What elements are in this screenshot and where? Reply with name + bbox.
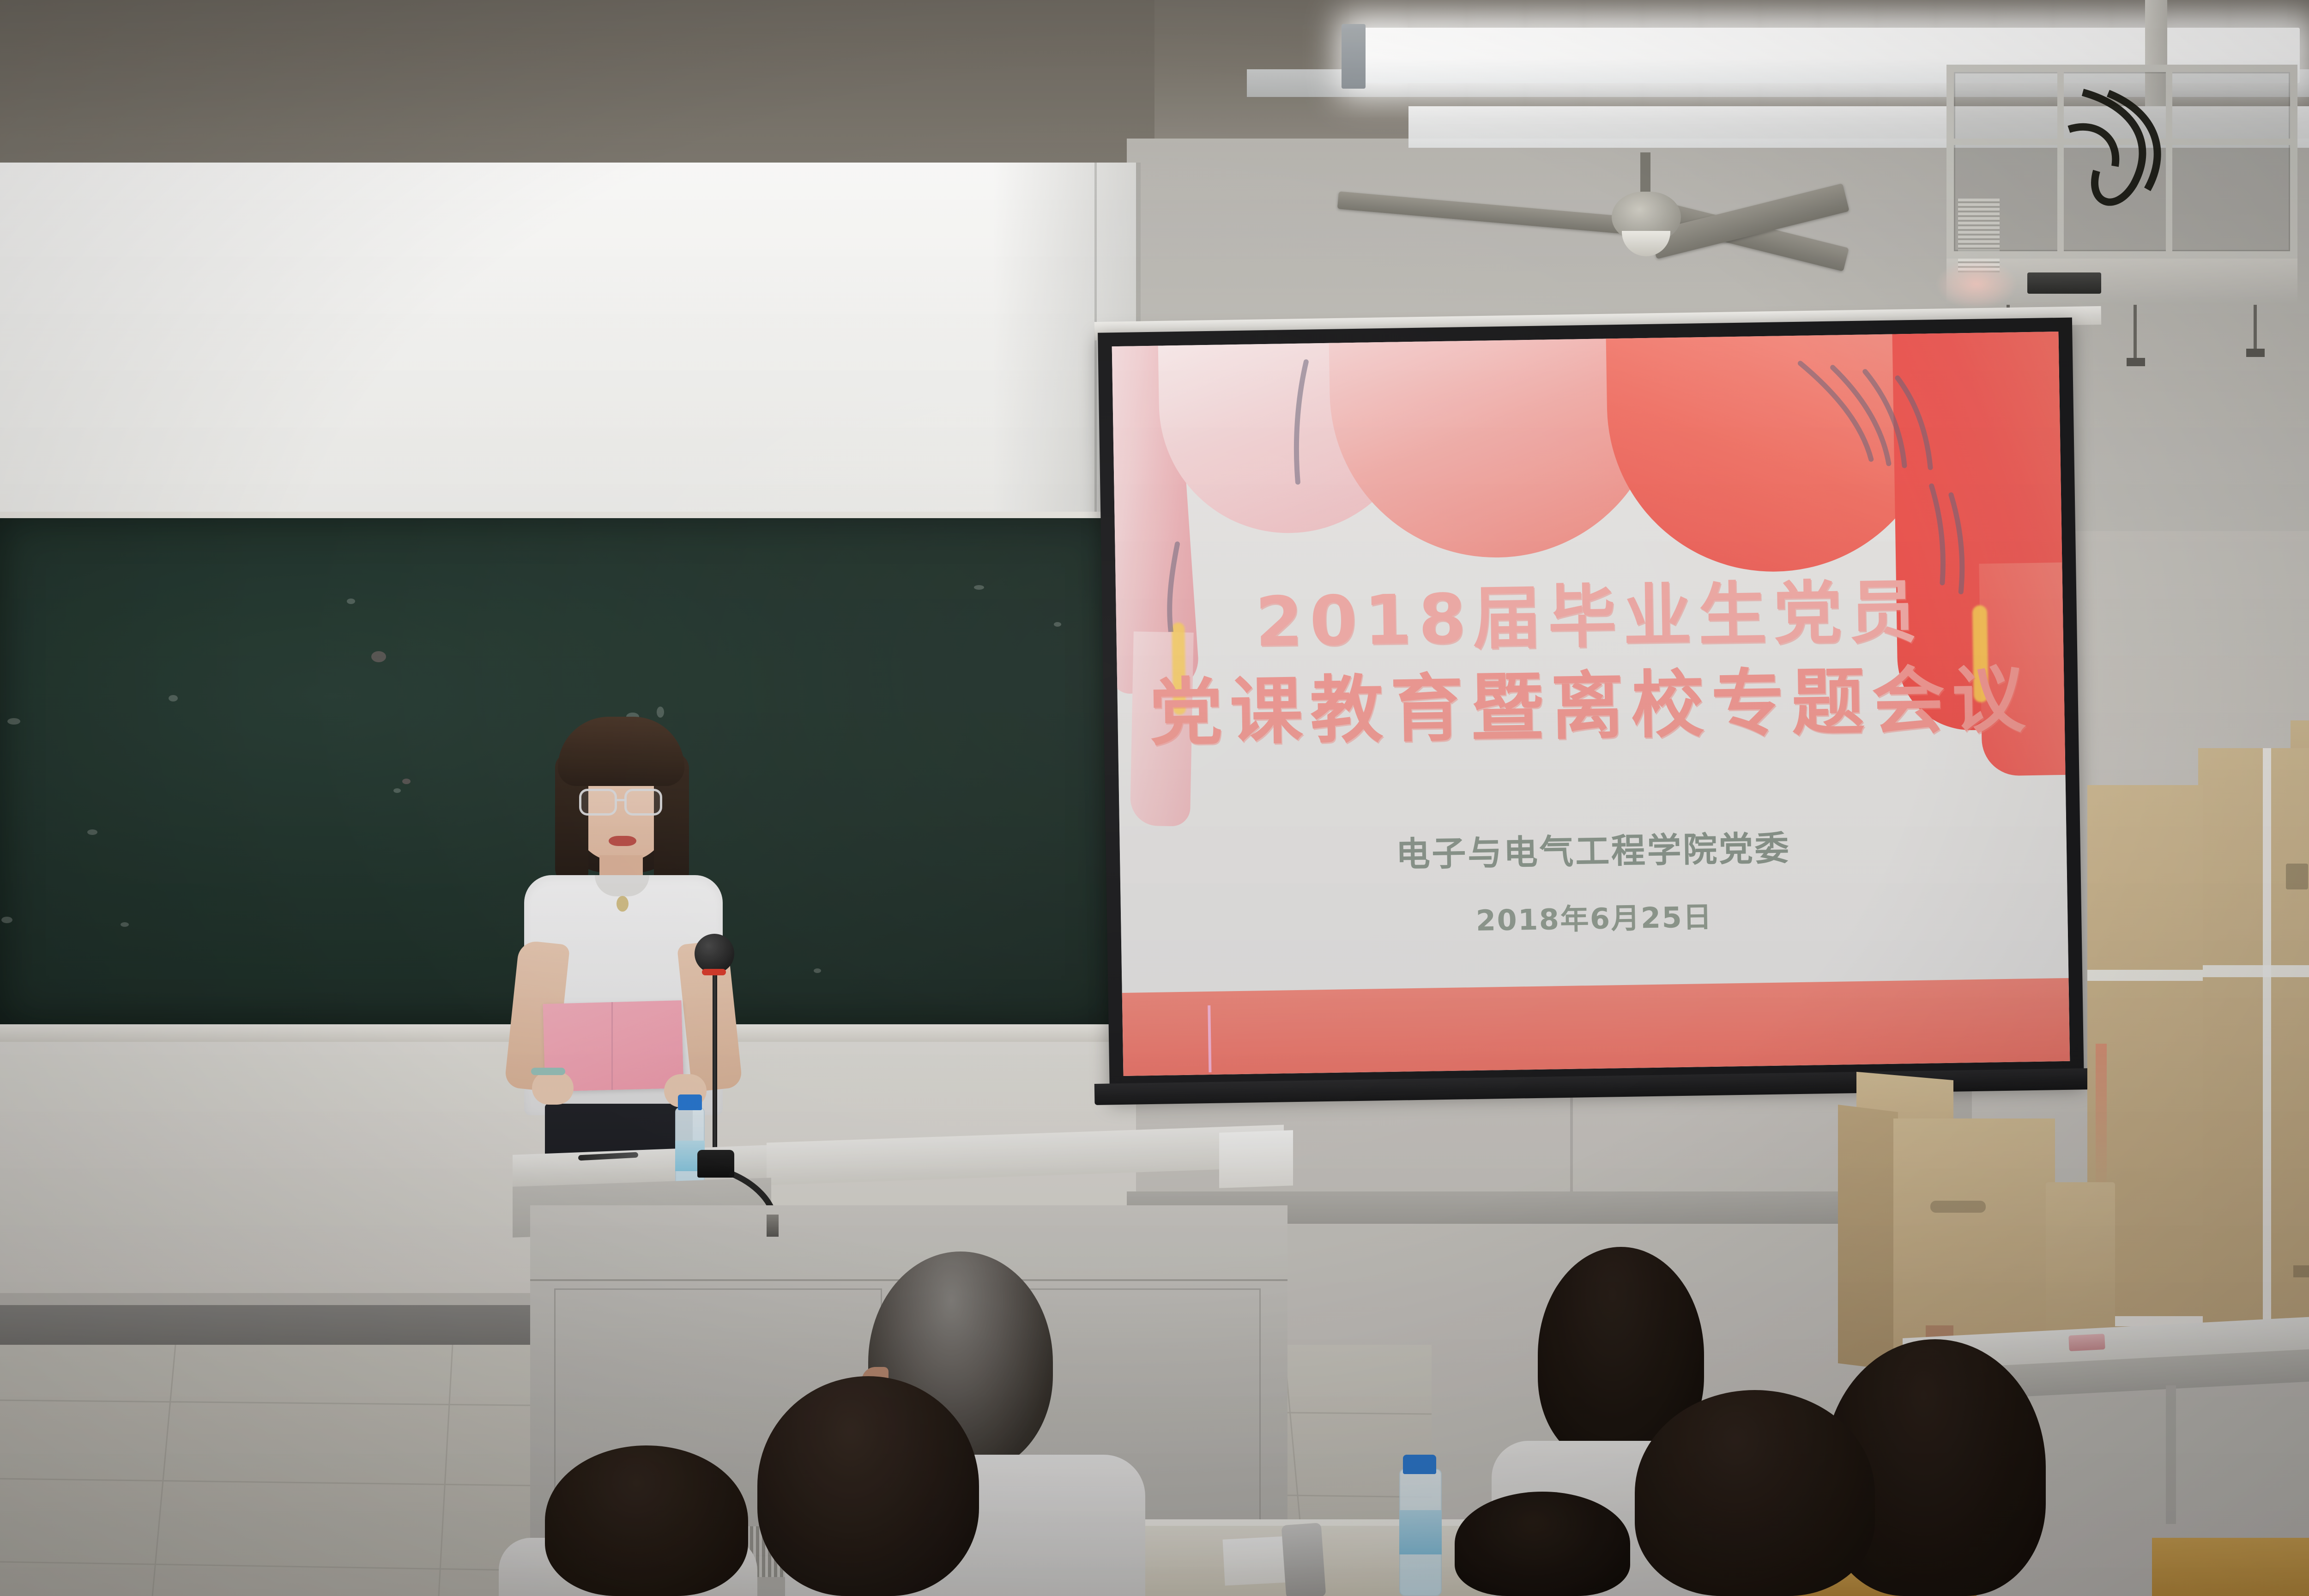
slide-bottom-band xyxy=(1122,978,2070,1076)
eyeglasses-bridge xyxy=(616,799,626,801)
slide-title-block: 2018届毕业生党员 党课教育暨离校专题会议 xyxy=(1116,572,2065,755)
box-light-spill xyxy=(2096,1044,2107,1196)
wooden-chair[interactable] xyxy=(2152,1538,2309,1596)
microphone-head[interactable] xyxy=(695,934,734,973)
ceiling-left-section xyxy=(0,0,1154,166)
projector-beam-glow xyxy=(1935,259,2018,309)
audience-head xyxy=(545,1445,748,1596)
photograph-scene: 2018届毕业生党员 党课教育暨离校专题会议 电子与电气工程学院党委 2018年… xyxy=(0,0,2309,1596)
beaded-bracelet xyxy=(531,1068,565,1075)
slide-title-line-1: 2018届毕业生党员 xyxy=(1116,572,2063,663)
paper-on-desk[interactable] xyxy=(1222,1536,1289,1585)
eyeglasses-left-lens xyxy=(579,789,617,816)
microphone-led-indicator xyxy=(702,969,726,975)
lectern-lock[interactable] xyxy=(767,1215,779,1237)
tube-light-end-cap xyxy=(1342,24,1366,89)
water-bottle-desk-cap[interactable] xyxy=(1403,1455,1436,1474)
eyeglasses-right-lens xyxy=(624,789,662,816)
cage-bar xyxy=(2057,72,2064,251)
water-bottle-desk-label xyxy=(1399,1510,1442,1554)
cardboard-box xyxy=(1838,1108,2055,1367)
presentation-slide: 2018届毕业生党员 党课教育暨离校专题会议 电子与电气工程学院党委 2018年… xyxy=(1112,332,2070,1076)
lectern-desktop-edge xyxy=(1219,1130,1293,1188)
mobile-phone[interactable] xyxy=(1281,1523,1326,1596)
microphone-stem xyxy=(713,949,717,1157)
audience-head xyxy=(757,1376,979,1596)
audience-head xyxy=(1455,1492,1630,1596)
side-desk-leg xyxy=(2166,1385,2176,1524)
paper-fold-line xyxy=(611,1002,613,1090)
slide-organization: 电子与电气工程学院党委 xyxy=(1119,816,2067,881)
cable-hanger xyxy=(2134,305,2137,365)
box-print xyxy=(1930,1201,1986,1213)
wall-seam xyxy=(1094,163,1097,523)
presenter-lips xyxy=(609,836,636,846)
cable-hanger xyxy=(2254,305,2257,356)
blackboard-top-rail xyxy=(0,512,1136,518)
presenter-hair-top xyxy=(558,717,684,786)
presenter-left-hand xyxy=(532,1071,574,1105)
cardboard-box xyxy=(2198,748,2309,1348)
front-desk-edge xyxy=(1145,1519,1496,1526)
projector-cables xyxy=(2064,88,2203,226)
upper-wall xyxy=(0,163,1136,523)
hanger-foot xyxy=(2246,349,2265,357)
projection-screen-surface: 2018届毕业生党员 党课教育暨离校专题会议 电子与电气工程学院党委 2018年… xyxy=(1112,332,2070,1076)
box-print xyxy=(2286,864,2308,889)
slide-title-line-2: 党课教育暨离校专题会议 xyxy=(1117,659,2065,755)
hanger-foot xyxy=(2127,358,2145,366)
box-print xyxy=(2293,1265,2309,1277)
projector-lens xyxy=(2027,272,2101,294)
necklace xyxy=(617,896,629,912)
water-bottle-cap[interactable] xyxy=(678,1094,702,1110)
blackboard-eraser[interactable] xyxy=(2068,1334,2105,1351)
slide-date: 2018年6月25日 xyxy=(1121,888,2068,944)
ceiling-fan-rod xyxy=(1640,152,1650,194)
audience-head xyxy=(1635,1390,1875,1596)
